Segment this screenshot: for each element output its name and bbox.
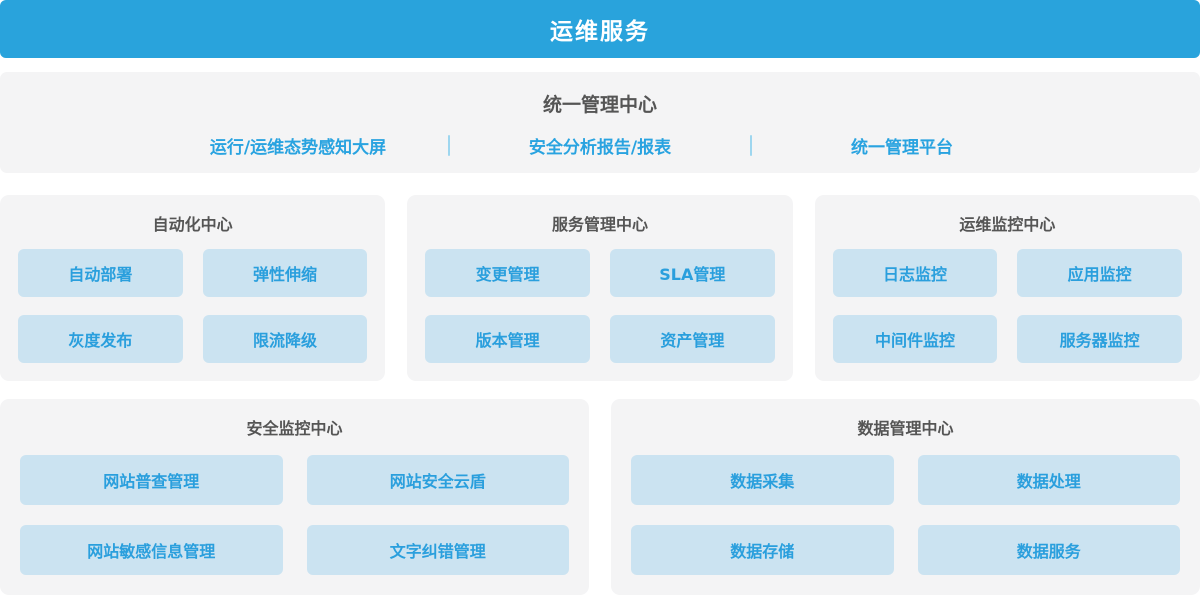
tile-text-correction-management[interactable]: 文字纠错管理 [307, 525, 570, 575]
tile-application-monitoring[interactable]: 应用监控 [1017, 249, 1182, 297]
top-group-row: 自动化中心 自动部署 弹性伸缩 灰度发布 限流降级 服务管理中心 变更管理 SL… [0, 195, 1200, 381]
management-link-dashboard[interactable]: 运行/运维态势感知大屏 [148, 133, 448, 158]
tile-data-storage[interactable]: 数据存储 [631, 525, 894, 575]
tile-rate-limit-degrade[interactable]: 限流降级 [203, 315, 368, 363]
group-security-monitoring-center: 安全监控中心 网站普查管理 网站安全云盾 网站敏感信息管理 文字纠错管理 [0, 399, 589, 595]
management-center-links: 运行/运维态势感知大屏 安全分析报告/报表 统一管理平台 [0, 133, 1200, 158]
tile-middleware-monitoring[interactable]: 中间件监控 [833, 315, 998, 363]
bottom-group-row: 安全监控中心 网站普查管理 网站安全云盾 网站敏感信息管理 文字纠错管理 数据管… [0, 399, 1200, 595]
tile-change-management[interactable]: 变更管理 [425, 249, 590, 297]
group-automation-center: 自动化中心 自动部署 弹性伸缩 灰度发布 限流降级 [0, 195, 385, 381]
tile-grid: 变更管理 SLA管理 版本管理 资产管理 [425, 249, 774, 363]
group-title: 数据管理中心 [631, 415, 1180, 439]
tile-log-monitoring[interactable]: 日志监控 [833, 249, 998, 297]
management-link-security-report[interactable]: 安全分析报告/报表 [450, 133, 750, 158]
tile-grid: 数据采集 数据处理 数据存储 数据服务 [631, 455, 1180, 575]
tile-website-census-management[interactable]: 网站普查管理 [20, 455, 283, 505]
tile-grid: 网站普查管理 网站安全云盾 网站敏感信息管理 文字纠错管理 [20, 455, 569, 575]
tile-sla-management[interactable]: SLA管理 [610, 249, 775, 297]
page-title: 运维服务 [550, 12, 650, 46]
tile-data-service[interactable]: 数据服务 [918, 525, 1181, 575]
tile-grid: 自动部署 弹性伸缩 灰度发布 限流降级 [18, 249, 367, 363]
tile-data-processing[interactable]: 数据处理 [918, 455, 1181, 505]
group-title: 自动化中心 [18, 211, 367, 235]
tile-website-security-cloud-shield[interactable]: 网站安全云盾 [307, 455, 570, 505]
tile-elastic-scaling[interactable]: 弹性伸缩 [203, 249, 368, 297]
tile-grid: 日志监控 应用监控 中间件监控 服务器监控 [833, 249, 1182, 363]
management-center-title: 统一管理中心 [543, 90, 657, 117]
tile-data-collection[interactable]: 数据采集 [631, 455, 894, 505]
diagram-root: 运维服务 统一管理中心 运行/运维态势感知大屏 安全分析报告/报表 统一管理平台… [0, 0, 1200, 602]
group-data-management-center: 数据管理中心 数据采集 数据处理 数据存储 数据服务 [611, 399, 1200, 595]
tile-version-management[interactable]: 版本管理 [425, 315, 590, 363]
management-link-platform[interactable]: 统一管理平台 [752, 133, 1052, 158]
group-title: 服务管理中心 [425, 211, 774, 235]
tile-auto-deploy[interactable]: 自动部署 [18, 249, 183, 297]
group-service-management-center: 服务管理中心 变更管理 SLA管理 版本管理 资产管理 [407, 195, 792, 381]
tile-asset-management[interactable]: 资产管理 [610, 315, 775, 363]
header-banner: 运维服务 [0, 0, 1200, 58]
group-ops-monitoring-center: 运维监控中心 日志监控 应用监控 中间件监控 服务器监控 [815, 195, 1200, 381]
management-center-panel: 统一管理中心 运行/运维态势感知大屏 安全分析报告/报表 统一管理平台 [0, 72, 1200, 173]
group-title: 运维监控中心 [833, 211, 1182, 235]
tile-website-sensitive-info-management[interactable]: 网站敏感信息管理 [20, 525, 283, 575]
tile-gray-release[interactable]: 灰度发布 [18, 315, 183, 363]
tile-server-monitoring[interactable]: 服务器监控 [1017, 315, 1182, 363]
group-title: 安全监控中心 [20, 415, 569, 439]
